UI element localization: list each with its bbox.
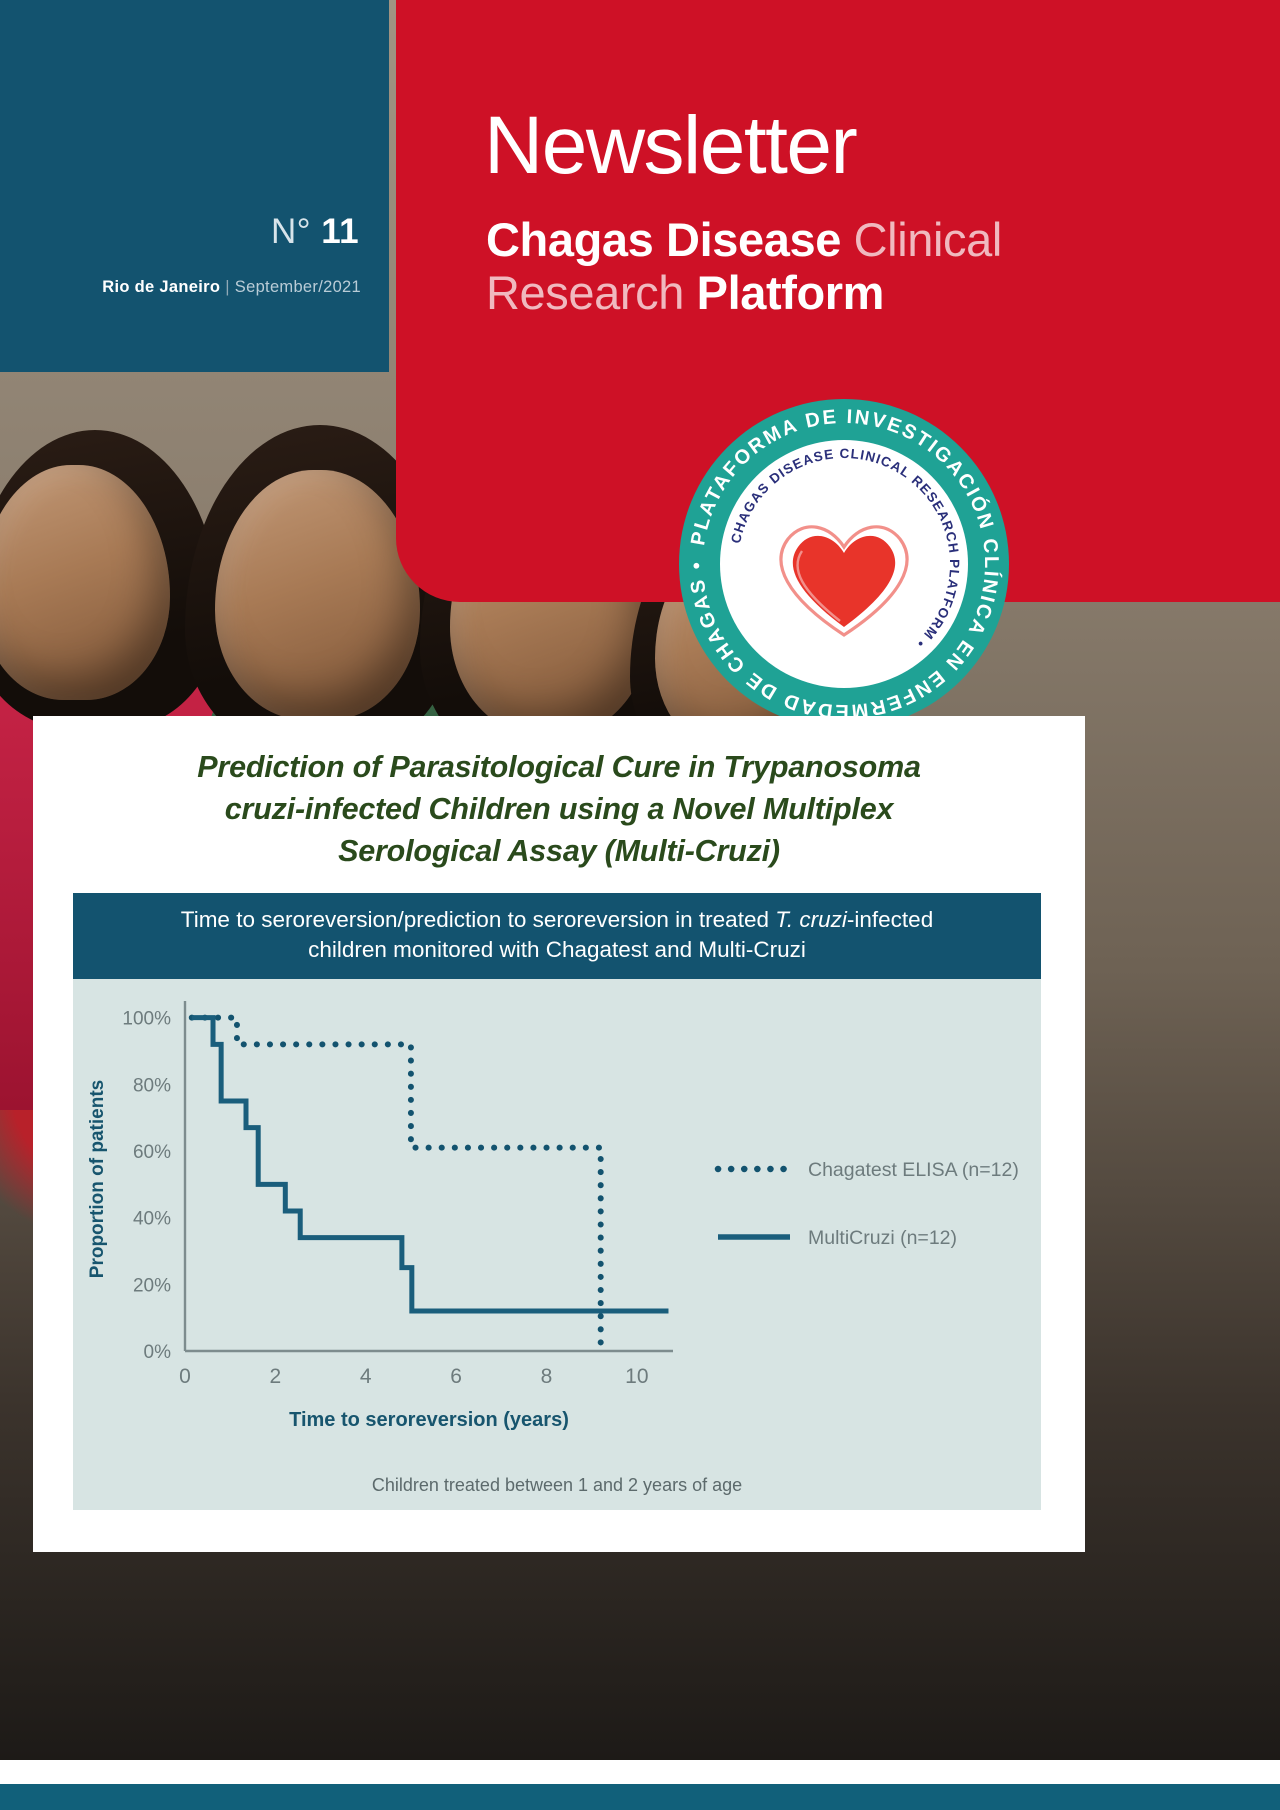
issue-prefix: N°: [271, 212, 311, 251]
figure-caption: Children treated between 1 and 2 years o…: [73, 1475, 1041, 1496]
y-tick-label: 20%: [133, 1275, 171, 1296]
figure-title-bar: Time to seroreversion/prediction to sero…: [73, 893, 1041, 979]
figure-container: Time to seroreversion/prediction to sero…: [73, 893, 1041, 1521]
chart-plot-area: 0%20%40%60%80%100% 0246810 Chagatest ELI…: [73, 979, 1041, 1510]
article-title: Prediction of Parasitological Cure in Tr…: [33, 716, 1085, 878]
x-axis-label: Time to seroreversion (years): [289, 1409, 569, 1431]
chart-series: [192, 1018, 669, 1351]
legend-label: MultiCruzi (n=12): [808, 1227, 957, 1249]
y-tick-label: 100%: [122, 1009, 171, 1030]
article-title-line1: Prediction of Parasitological Cure in Tr…: [197, 750, 921, 784]
divider: |: [220, 278, 235, 296]
date-label: September/2021: [235, 278, 361, 296]
place-and-date: Rio de Janeiro|September/2021: [102, 278, 361, 297]
subtitle-light-1: Clinical: [854, 213, 1002, 266]
figure-title-line2: children monitored with Chagatest and Mu…: [308, 937, 806, 962]
x-tick-label: 10: [625, 1365, 648, 1388]
series-line: [192, 1018, 669, 1311]
y-tick-label: 60%: [133, 1142, 171, 1163]
subtitle-bold-2: Platform: [697, 266, 884, 319]
article-card: Prediction of Parasitological Cure in Tr…: [33, 716, 1085, 1552]
issue-number-value: 11: [321, 212, 359, 251]
y-tick-label: 80%: [133, 1075, 171, 1096]
article-title-line2: cruzi-infected Children using a Novel Mu…: [225, 792, 893, 826]
footer-strip: [0, 1784, 1280, 1810]
y-tick-label: 0%: [144, 1342, 172, 1363]
figure-title-post: -infected: [847, 907, 933, 932]
chart-svg: 0%20%40%60%80%100% 0246810 Chagatest ELI…: [73, 979, 1041, 1510]
x-tick-label: 4: [360, 1365, 372, 1388]
platform-seal-logo: PLATAFORMA DE INVESTIGACIÓN CLÍNICA EN E…: [673, 393, 1015, 735]
newsletter-title: Newsletter: [484, 105, 856, 187]
y-axis-label: Proportion of patients: [87, 1080, 108, 1278]
x-tick-label: 2: [270, 1365, 282, 1388]
x-tick-label: 0: [179, 1365, 191, 1388]
masthead-subtitle-line1: Chagas Disease Clinical: [486, 215, 1002, 266]
y-tick-labels: 0%20%40%60%80%100%: [122, 1009, 171, 1363]
x-tick-labels: 0246810: [179, 1365, 648, 1388]
issue-number: N° 11: [271, 212, 359, 252]
subtitle-bold-1: Chagas Disease: [486, 213, 841, 266]
figure-title-pre: Time to seroreversion/prediction to sero…: [181, 907, 775, 932]
figure-title-species: T. cruzi: [775, 907, 847, 932]
legend-label: Chagatest ELISA (n=12): [808, 1159, 1019, 1181]
x-tick-label: 6: [450, 1365, 462, 1388]
issue-info-panel: N° 11 Rio de Janeiro|September/2021: [0, 0, 389, 372]
y-tick-label: 40%: [133, 1209, 171, 1230]
x-tick-label: 8: [541, 1365, 553, 1388]
subtitle-light-2: Research: [486, 266, 684, 319]
article-title-line3: Serological Assay (Multi-Cruzi): [338, 834, 780, 868]
masthead-subtitle-line2: Research Platform: [486, 268, 884, 319]
series-line: [192, 1018, 601, 1351]
newsletter-page: N° 11 Rio de Janeiro|September/2021 News…: [0, 0, 1280, 1810]
chart-legend: Chagatest ELISA (n=12)MultiCruzi (n=12): [718, 1159, 1019, 1249]
city-label: Rio de Janeiro: [102, 278, 220, 296]
